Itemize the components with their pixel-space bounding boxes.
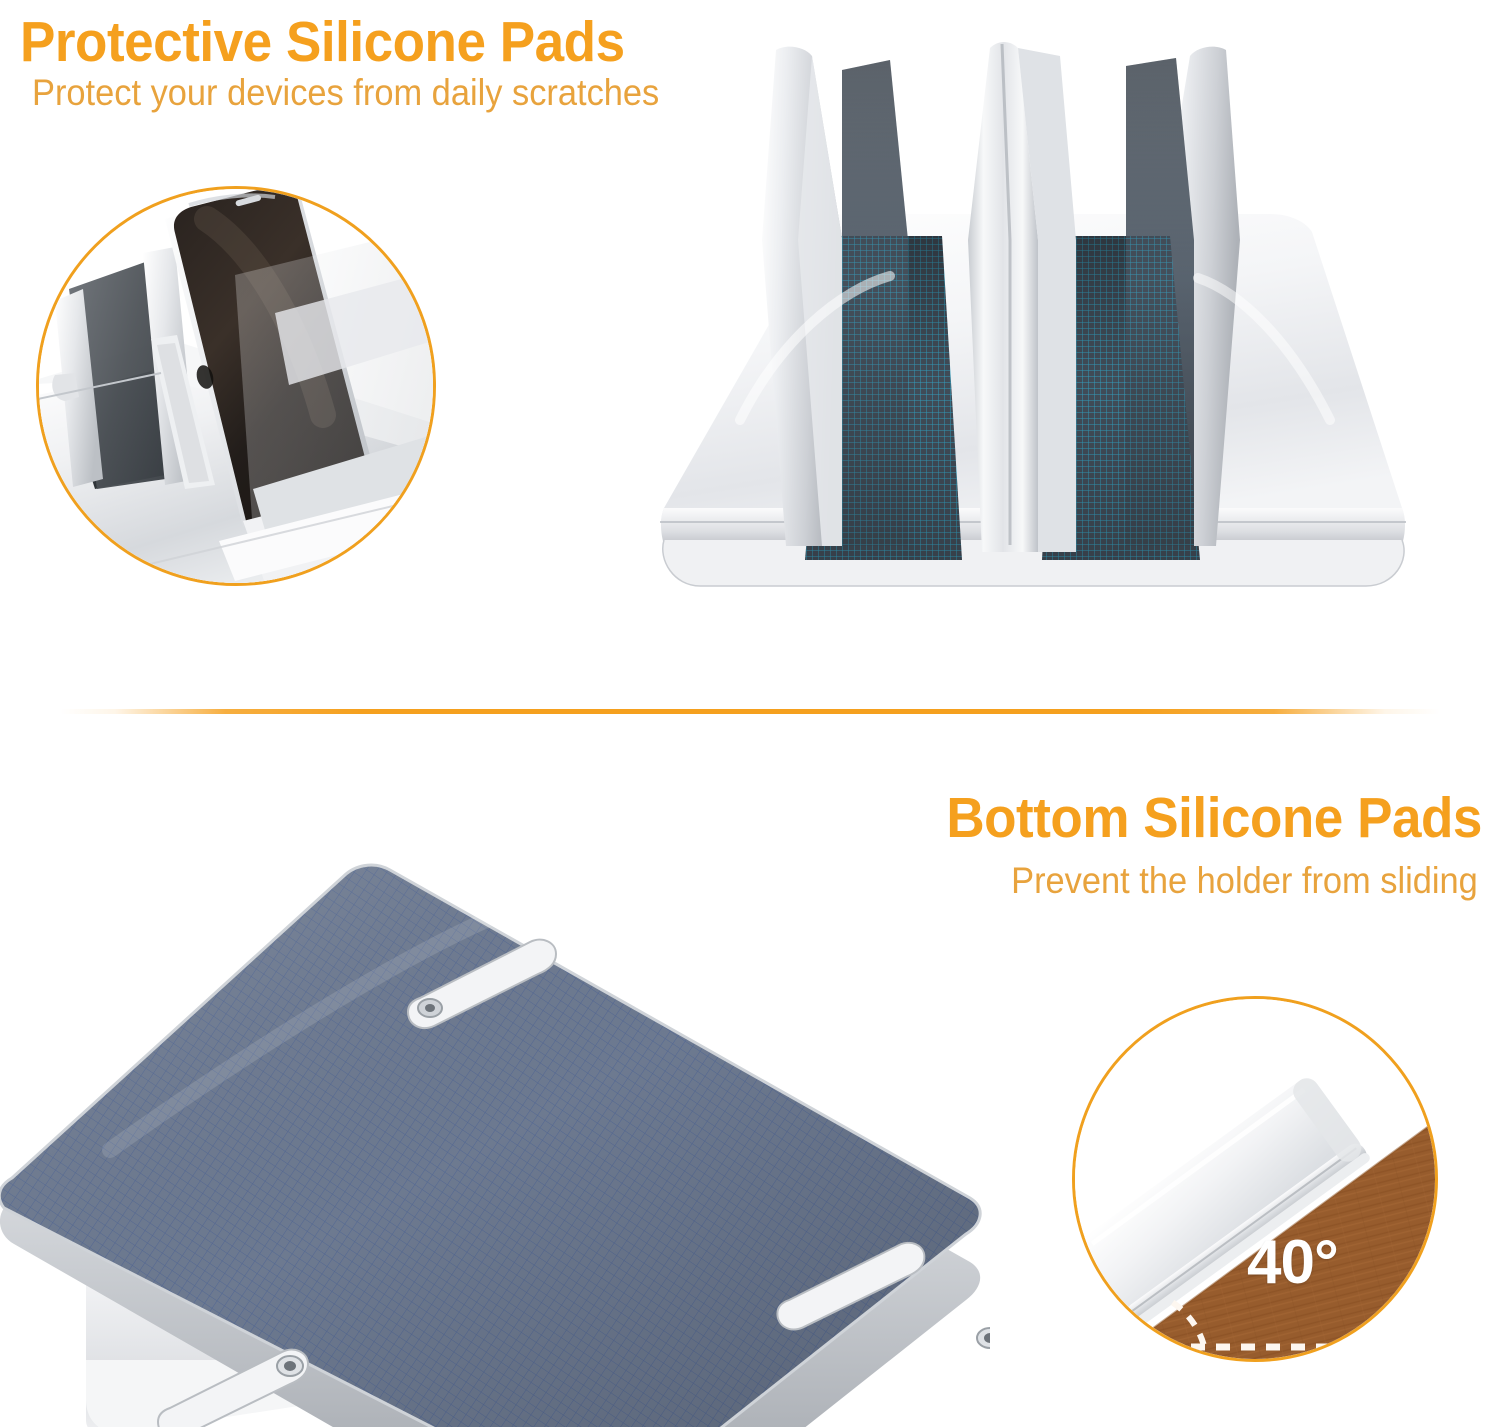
bottom-section-subhead: Prevent the holder from sliding [1011, 862, 1478, 899]
laptop-stand-underside-photo [0, 800, 990, 1427]
product-feature-graphic: Protective Silicone Pads Protect your de… [0, 0, 1500, 1427]
top-section-headline: Protective Silicone Pads [20, 14, 625, 71]
phone-in-slot-inset [36, 186, 436, 586]
laptop-stand-front-photo [590, 40, 1480, 640]
angle-arc-icon [1163, 1231, 1255, 1323]
stand-tilt-angle-inset: 40° [1072, 996, 1438, 1362]
tilt-angle-label: 40° [1247, 1227, 1338, 1298]
bottom-section-headline: Bottom Silicone Pads [946, 790, 1482, 847]
top-section-subhead: Protect your devices from daily scratche… [32, 74, 659, 111]
section-divider [60, 709, 1440, 714]
